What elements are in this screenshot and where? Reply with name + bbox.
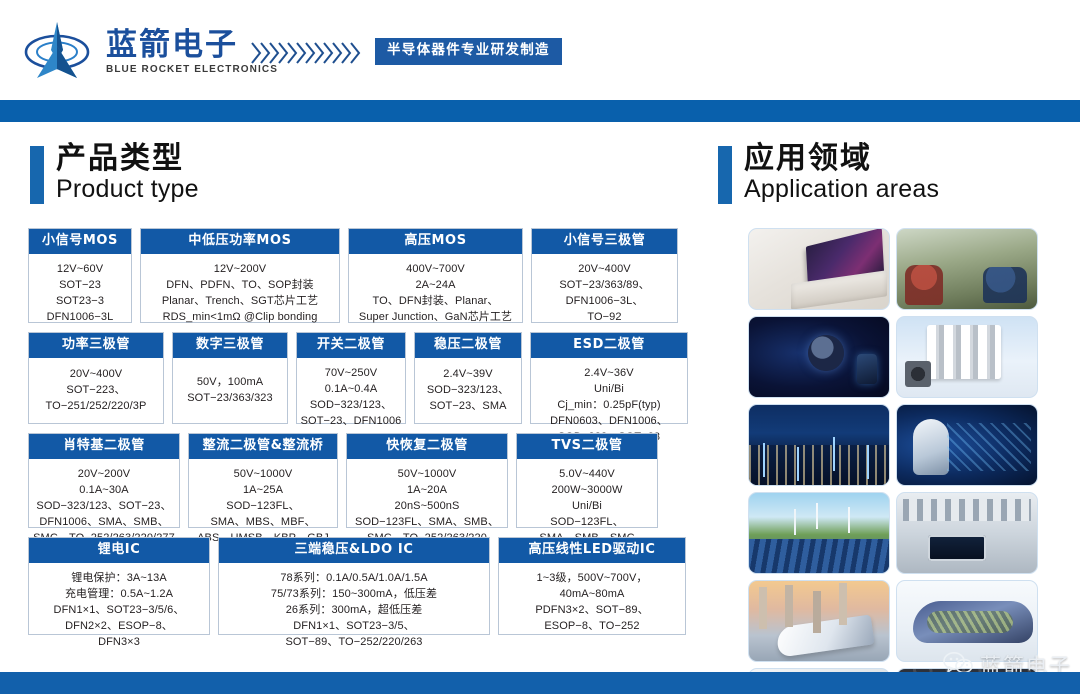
spec-line: 2.4V~39V [418,367,518,383]
product-card-title: 小信号三极管 [532,229,677,254]
product-card-title: 小信号MOS [29,229,131,254]
home-appliances-photo [896,316,1038,398]
spec-line: SOD−123FL、 [520,515,654,531]
rocket-logo-icon [22,20,92,84]
product-card[interactable]: 小信号MOS12V~60VSOT−23SOT23−3DFN1006−3L [28,228,132,323]
application-areas-grid [748,228,1038,694]
product-card-title: 中低压功率MOS [141,229,339,254]
product-card-title: 锂电IC [29,538,209,563]
spec-line: TO−251/252/220/3P [32,399,160,415]
smart-city-photo [748,404,890,486]
product-card-title: TVS二极管 [517,434,657,459]
product-card[interactable]: 开关二极管70V~250V0.1A~0.4ASOD−323/123、SOT−23… [296,332,406,424]
spec-line: RDS_min<1mΩ @Clip bonding [144,310,336,326]
product-card[interactable]: 锂电IC锂电保护：3A~13A充电管理：0.5A~1.2ADFN1×1、SOT2… [28,537,210,635]
spec-line: 50V~1000V [350,467,504,483]
header-accent-bar [0,100,1080,122]
product-card[interactable]: 高压MOS400V~700V2A~24ATO、DFN封装、Planar、Supe… [348,228,523,323]
spec-line: 400V~700V [352,262,519,278]
spec-line: 20V~400V [32,367,160,383]
spec-line: Uni/Bi [534,382,684,398]
footer-accent-bar [0,672,1080,694]
tagline-banner: 半导体器件专业研发制造 [375,38,562,65]
spec-line: 40mA~80mA [502,587,682,603]
product-row: 锂电IC锂电保护：3A~13A充电管理：0.5A~1.2ADFN1×1、SOT2… [28,537,688,635]
wearable-devices-photo [748,316,890,398]
spec-line: SOD−123FL、SMA、SMB、 [350,515,504,531]
laptop-computing-photo [748,228,890,310]
spec-line: 26系列：300mA，超低压差 [222,603,486,619]
product-card-title: ESD二极管 [531,333,687,358]
product-card-specs: 2.4V~39VSOD−323/123、SOT−23、SMA [415,358,521,423]
spec-line: 2A~24A [352,278,519,294]
product-card-title: 高压线性LED驱动IC [499,538,685,563]
product-card-title: 肖特基二极管 [29,434,179,459]
spec-line: 20V~200V [32,467,176,483]
product-card-specs: 锂电保护：3A~13A充电管理：0.5A~1.2ADFN1×1、SOT23−3/… [29,563,209,659]
spec-line: Planar、Trench、SGT芯片工艺 [144,294,336,310]
spec-line: DFN1×1、SOT23−3/5、 [222,619,486,635]
spec-line: 0.1A~30A [32,483,176,499]
spec-line: ESOP−8、TO−252 [502,619,682,635]
product-card-specs: 12V~60VSOT−23SOT23−3DFN1006−3L [29,254,131,334]
spec-line: SMA、MBS、MBF、 [192,515,334,531]
spec-line: SOT−23、SMA [418,399,518,415]
spec-line: SOD−323/123、SOT−23、 [32,499,176,515]
spec-line: TO、DFN封装、Planar、 [352,294,519,310]
ai-robotics-photo [896,404,1038,486]
product-card-title: 功率三极管 [29,333,163,358]
spec-line: 70V~250V [300,366,402,382]
product-card-title: 稳压二极管 [415,333,521,358]
spec-line: 5.0V~440V [520,467,654,483]
product-title-cn: 产品类型 [56,143,199,175]
product-card[interactable]: 快恢复二极管50V~1000V1A~20A20nS~500nSSOD−123FL… [346,433,508,528]
product-card[interactable]: 小信号三极管20V~400VSOT−23/363/89、DFN1006−3L、T… [531,228,678,323]
spec-line: SOD−323/123、 [300,398,402,414]
application-row [748,404,1038,486]
spec-line: DFN1×1、SOT23−3/5/6、 [32,603,206,619]
spec-line: 1A~25A [192,483,334,499]
product-card[interactable]: 肖特基二极管20V~200V0.1A~30ASOD−323/123、SOT−23… [28,433,180,528]
spec-line: Super Junction、GaN芯片工艺 [352,310,519,326]
solar-wind-energy-photo [748,492,890,574]
product-card-specs: 12V~200VDFN、PDFN、TO、SOP封装Planar、Trench、S… [141,254,339,334]
industrial-automation-photo [896,492,1038,574]
spec-line: 2.4V~36V [534,366,684,382]
product-row: 肖特基二极管20V~200V0.1A~30ASOD−323/123、SOT−23… [28,433,688,528]
title-accent-bar [30,146,44,204]
product-card-specs: 70V~250V0.1A~0.4ASOD−323/123、SOT−23、DFN1… [297,358,405,438]
product-card-title: 高压MOS [349,229,522,254]
high-speed-rail-photo [748,580,890,662]
application-title-cn: 应用领域 [744,143,939,175]
product-card[interactable]: 数字三极管50V，100mASOT−23/363/323 [172,332,288,424]
application-row [748,316,1038,398]
spec-line: 200W~3000W [520,483,654,499]
application-areas-title: 应用领域 Application areas [718,143,939,204]
product-row: 小信号MOS12V~60VSOT−23SOT23−3DFN1006−3L中低压功… [28,228,688,323]
product-card-specs: 20V~400VSOT−23/363/89、DFN1006−3L、TO−92 [532,254,677,334]
spec-line: DFN1006−3L [32,310,128,326]
poster-page: 蓝箭电子 BLUE ROCKET ELECTRONICS 半导体器件专业研发制造 [0,0,1080,694]
application-row [748,492,1038,574]
product-card-specs: 400V~700V2A~24ATO、DFN封装、Planar、Super Jun… [349,254,522,334]
product-card-title: 三端稳压&LDO IC [219,538,489,563]
product-card[interactable]: TVS二极管5.0V~440V200W~3000WUni/BiSOD−123FL… [516,433,658,528]
spec-line: DFN1006−3L、 [535,294,674,310]
spec-line: SOT−223、 [32,383,160,399]
product-card-specs: 1~3级，500V~700V，40mA~80mAPDFN3×2、SOT−89、E… [499,563,685,643]
spec-line: 20V~400V [535,262,674,278]
spec-line: SOD−123FL、 [192,499,334,515]
product-type-grid: 小信号MOS12V~60VSOT−23SOT23−3DFN1006−3L中低压功… [28,228,688,644]
product-card[interactable]: 三端稳压&LDO IC78系列：0.1A/0.5A/1.0A/1.5A75/73… [218,537,490,635]
spec-line: 锂电保护：3A~13A [32,571,206,587]
product-card[interactable]: 稳压二极管2.4V~39VSOD−323/123、SOT−23、SMA [414,332,522,424]
product-type-title: 产品类型 Product type [30,143,199,204]
spec-line: SOT−23 [32,278,128,294]
product-row: 功率三极管20V~400VSOT−223、TO−251/252/220/3P数字… [28,332,688,424]
spec-line: 75/73系列：150~300mA，低压差 [222,587,486,603]
application-row [748,228,1038,310]
outdoor-portable-power-photo [896,228,1038,310]
spec-line: SOT23−3 [32,294,128,310]
page-header: 蓝箭电子 BLUE ROCKET ELECTRONICS 半导体器件专业研发制造 [0,0,1080,100]
spec-line: 50V~1000V [192,467,334,483]
spec-line: DFN、PDFN、TO、SOP封装 [144,278,336,294]
product-title-en: Product type [56,176,199,204]
product-card-specs: 78系列：0.1A/0.5A/1.0A/1.5A75/73系列：150~300m… [219,563,489,659]
product-card[interactable]: 功率三极管20V~400VSOT−223、TO−251/252/220/3P [28,332,164,424]
spec-line: DFN0603、DFN1006、 [534,414,684,430]
product-card-title: 快恢复二极管 [347,434,507,459]
product-card-title: 开关二极管 [297,333,405,358]
product-card[interactable]: ESD二极管2.4V~36VUni/BiCj_min：0.25pF(typ)DF… [530,332,688,424]
spec-line: 0.1A~0.4A [300,382,402,398]
title-accent-bar [718,146,732,204]
product-card-title: 数字三极管 [173,333,287,358]
spec-line: SOT−89、TO−252/220/263 [222,635,486,651]
spec-line: 78系列：0.1A/0.5A/1.0A/1.5A [222,571,486,587]
spec-line: Uni/Bi [520,499,654,515]
spec-line: 50V，100mA [176,375,284,391]
product-card[interactable]: 中低压功率MOS12V~200VDFN、PDFN、TO、SOP封装Planar、… [140,228,340,323]
spec-line: SOT−23、DFN1006 [300,414,402,430]
brand-logo[interactable]: 蓝箭电子 BLUE ROCKET ELECTRONICS [22,20,278,84]
product-card[interactable]: 高压线性LED驱动IC1~3级，500V~700V，40mA~80mAPDFN3… [498,537,686,635]
spec-line: 1A~20A [350,483,504,499]
product-card-specs: 50V，100mASOT−23/363/323 [173,358,287,423]
spec-line: PDFN3×2、SOT−89、 [502,603,682,619]
spec-line: SOT−23/363/323 [176,391,284,407]
spec-line: DFN2×2、ESOP−8、 [32,619,206,635]
spec-line: 1~3级，500V~700V， [502,571,682,587]
product-card[interactable]: 整流二极管&整流桥50V~1000V1A~25ASOD−123FL、SMA、MB… [188,433,338,528]
spec-line: Cj_min：0.25pF(typ) [534,398,684,414]
spec-line: SOT−23/363/89、 [535,278,674,294]
spec-line: DFN1006、SMA、SMB、 [32,515,176,531]
chevron-arrows-icon [250,38,368,68]
product-card-title: 整流二极管&整流桥 [189,434,337,459]
spec-line: 20nS~500nS [350,499,504,515]
spec-line: DFN3×3 [32,635,206,651]
spec-line: 12V~60V [32,262,128,278]
product-card-specs: 20V~400VSOT−223、TO−251/252/220/3P [29,358,163,423]
spec-line: SOD−323/123、 [418,383,518,399]
application-title-en: Application areas [744,176,939,204]
spec-line: TO−92 [535,310,674,326]
spec-line: 12V~200V [144,262,336,278]
spec-line: 充电管理：0.5A~1.2A [32,587,206,603]
